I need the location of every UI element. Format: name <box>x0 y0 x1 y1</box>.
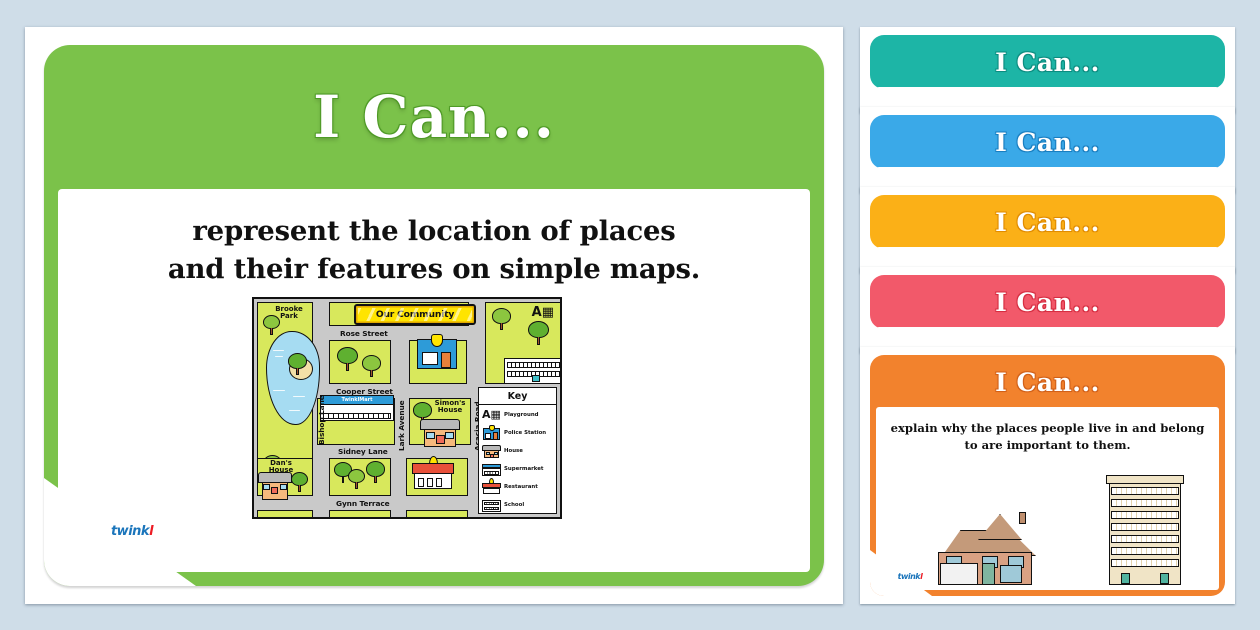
lake-shape <box>266 331 320 425</box>
label-rose-street: Rose Street <box>340 329 388 338</box>
police-station-icon <box>417 339 457 369</box>
detached-house-illustration <box>934 512 1036 585</box>
tree-icon <box>348 469 365 489</box>
map-key-title: Key <box>479 388 556 405</box>
objective-line-1: represent the location of places <box>58 213 810 251</box>
playground-icon: A▦ <box>532 305 554 320</box>
label-sidney-lane: Sidney Lane <box>338 447 388 456</box>
stacked-card-title: I Can... <box>995 368 1100 397</box>
supermarket-icon: TwinklMart <box>320 395 394 421</box>
restaurant-icon <box>412 459 454 489</box>
tree-icon <box>366 461 385 483</box>
homes-illustration <box>876 469 1219 587</box>
block-bottom-a <box>257 510 313 519</box>
house-icon <box>422 419 458 444</box>
key-row-supermarket: Supermarket <box>482 460 556 477</box>
stacked-card-red[interactable]: I Can... <box>860 267 1235 353</box>
map-key: Key A▦ Playground <box>478 387 557 514</box>
label-bishop-lane: Bishop Lane <box>317 395 326 445</box>
label-gynn-terrace: Gynn Terrace <box>336 499 390 508</box>
apartment-tower-illustration <box>1109 475 1181 585</box>
key-row-restaurant: Restaurant <box>482 478 556 495</box>
stacked-card-header: I Can... <box>870 35 1225 89</box>
playground-icon: A▦ <box>482 408 501 422</box>
tree-icon <box>337 347 358 371</box>
tree-icon <box>362 355 381 377</box>
block-trees-b <box>329 458 391 496</box>
tower-roof <box>1106 475 1184 484</box>
tower-entrance <box>1121 573 1130 584</box>
key-row-school: School <box>482 496 556 513</box>
stacked-card-panel: explain why the places people live in an… <box>876 407 1219 590</box>
card-stack: I Can... I Can... I Can... <box>860 27 1235 604</box>
twinkl-logo-text: twinkl <box>898 572 923 581</box>
house-roof-peak <box>978 514 1022 540</box>
stacked-card-header: I Can... <box>870 355 1225 409</box>
block-bottom-c <box>406 510 468 519</box>
key-row-playground: A▦ Playground <box>482 406 556 423</box>
stacked-card-inner: I Can... explain why the places people l… <box>870 355 1225 596</box>
garage-door <box>940 563 978 585</box>
police-station-icon <box>482 426 501 440</box>
stacked-card-teal[interactable]: I Can... <box>860 27 1235 113</box>
stacked-card-header: I Can... <box>870 195 1225 249</box>
objective-line-2: and their features on simple maps. <box>58 251 810 289</box>
stacked-card-header: I Can... <box>870 115 1225 169</box>
block-trees-a <box>329 340 391 384</box>
chimney <box>1019 512 1026 524</box>
page-title: I Can... <box>313 83 555 151</box>
window <box>1000 565 1022 583</box>
school-icon <box>504 358 562 384</box>
stacked-card-title: I Can... <box>995 208 1100 237</box>
tower-entrance <box>1160 573 1169 584</box>
supermarket-icon <box>482 462 501 476</box>
stacked-card-title: I Can... <box>995 48 1100 77</box>
objective-text: represent the location of places and the… <box>58 213 810 289</box>
twinkl-logo: twinkl <box>893 567 927 585</box>
tower-body <box>1109 481 1181 585</box>
stacked-card-title: I Can... <box>995 288 1100 317</box>
twinkl-logo-text: twinkl <box>111 524 153 539</box>
front-door <box>982 563 995 585</box>
block-bottom-b <box>329 510 391 519</box>
house-icon <box>482 444 501 458</box>
block-school: A▦ <box>485 302 561 384</box>
main-poster-card[interactable]: I Can... represent the location of place… <box>25 27 843 604</box>
label-brooke-park: Brooke Park <box>268 306 310 321</box>
label-cooper-street: Cooper Street <box>336 387 393 396</box>
key-row-police-station: Police Station <box>482 424 556 441</box>
stacked-card-objective-text: explain why the places people live in an… <box>884 420 1211 454</box>
label-dans-house: Dan's House <box>262 460 300 475</box>
tree-icon <box>492 308 511 330</box>
stacked-card-title: I Can... <box>995 128 1100 157</box>
screenshot-stage: I Can... represent the location of place… <box>0 0 1260 630</box>
label-lark-avenue: Lark Avenue <box>397 400 406 451</box>
main-poster-inner: I Can... represent the location of place… <box>44 45 824 586</box>
main-title-band: I Can... <box>44 45 824 189</box>
school-icon <box>482 498 501 512</box>
restaurant-icon <box>482 480 501 494</box>
tree-icon <box>291 472 308 492</box>
key-row-house: House <box>482 442 556 459</box>
stacked-card-orange-expanded[interactable]: I Can... explain why the places people l… <box>860 347 1235 604</box>
stacked-card-header: I Can... <box>870 275 1225 329</box>
main-white-panel: represent the location of places and the… <box>58 189 810 572</box>
stacked-card-blue[interactable]: I Can... <box>860 107 1235 193</box>
house-icon <box>260 472 290 494</box>
stacked-card-amber[interactable]: I Can... <box>860 187 1235 273</box>
map-canvas: Brooke Park Our Community <box>252 297 562 519</box>
label-simons-house: Simon's House <box>430 400 470 415</box>
map-banner: Our Community <box>354 304 476 325</box>
tree-icon <box>528 321 549 345</box>
tree-icon <box>288 353 307 375</box>
community-map-illustration: Brooke Park Our Community <box>252 297 562 519</box>
twinkl-logo: twinkl <box>106 517 158 546</box>
